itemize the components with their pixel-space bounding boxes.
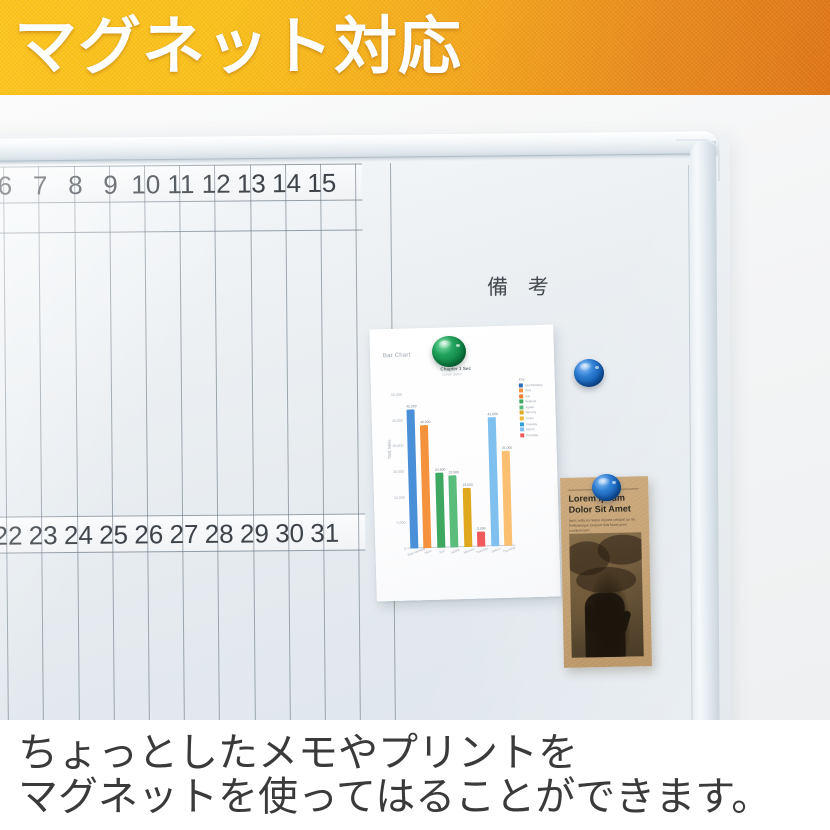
magnet-gloss bbox=[598, 478, 610, 486]
chart-title: Bar Chart bbox=[383, 352, 411, 359]
chart-y-tick-label: 5,000 bbox=[391, 521, 406, 525]
chart-bar bbox=[449, 475, 459, 548]
calendar-column-line bbox=[214, 165, 220, 720]
product-feature-image: マグネット対応 56789101112131415212223242526272… bbox=[0, 0, 830, 830]
blue-magnet-top[interactable] bbox=[574, 359, 604, 387]
calendar-day-cell[interactable]: 6 bbox=[0, 168, 23, 202]
calendar-column-line bbox=[355, 164, 361, 720]
chart-legend-label: Mercury bbox=[525, 410, 536, 414]
photo-branch bbox=[597, 534, 644, 565]
chart-legend-swatch bbox=[519, 388, 523, 392]
chart-bar-value: 40,000 bbox=[420, 420, 428, 424]
photo-hand-palm bbox=[584, 593, 625, 658]
magnet-highlight bbox=[456, 344, 460, 347]
magnet-highlight bbox=[612, 481, 616, 484]
chart-y-tick-label: 20,000 bbox=[389, 470, 404, 474]
chart-legend-item: Tuesday bbox=[520, 421, 550, 426]
calendar-day-cell[interactable]: 14 bbox=[269, 166, 304, 200]
chart-y-tick-label: 40,000 bbox=[388, 418, 403, 422]
photo-branch bbox=[576, 566, 637, 593]
chart-legend-label: Saturn bbox=[526, 427, 535, 431]
calendar-day-cell[interactable]: 31 bbox=[307, 516, 342, 550]
chart-bar-value: 45,000 bbox=[406, 405, 414, 409]
chart-legend-label: Jupiter bbox=[525, 405, 534, 409]
calendar-day-cell[interactable]: 15 bbox=[304, 166, 339, 200]
calendar-rule bbox=[0, 229, 363, 234]
chart-legend-item: Mars bbox=[519, 388, 549, 393]
chart-bar-value: 42,000 bbox=[487, 412, 495, 416]
remarks-label: 備 考 bbox=[487, 271, 556, 302]
chart-legend-item: Thursday bbox=[520, 432, 550, 437]
chart-subtitle-secondary: Lorem ipsum bbox=[442, 372, 462, 377]
chart-legend-label: Neptune bbox=[525, 399, 537, 403]
caption-area: ちょっとしたメモやプリントを マグネットを使ってはることができます。 bbox=[0, 720, 830, 830]
calendar-day-cell[interactable]: 9 bbox=[93, 168, 128, 202]
chart-legend-item: Sun bbox=[519, 393, 549, 398]
kraft-photo bbox=[569, 532, 644, 657]
chart-bar bbox=[406, 410, 418, 549]
calendar-day-cell[interactable]: 30 bbox=[272, 516, 307, 550]
chart-legend-label: East Monday bbox=[524, 382, 542, 387]
magnet-highlight bbox=[595, 366, 599, 369]
chart-bar-value: 24,500 bbox=[435, 467, 443, 471]
calendar-column-line bbox=[38, 166, 44, 720]
calendar-day-cell[interactable]: 24 bbox=[61, 518, 96, 552]
calendar-day-cell[interactable]: 28 bbox=[201, 517, 236, 551]
chart-legend-item: Mercury bbox=[520, 410, 550, 415]
chart-bar-value: 5,000 bbox=[477, 526, 485, 530]
chart-legend-item: Jupiter bbox=[519, 404, 549, 409]
chart-legend-swatch bbox=[520, 422, 524, 426]
chart-bar bbox=[420, 425, 431, 548]
banner-title: マグネット対応 bbox=[14, 8, 462, 86]
caption-line-1: ちょっとしたメモやプリントを bbox=[18, 730, 578, 776]
calendar-day-cell[interactable]: 22 bbox=[0, 518, 26, 552]
chart-legend-label: Venus bbox=[525, 416, 534, 420]
chart-y-axis-label: Total Sales bbox=[386, 439, 392, 459]
calendar-day-cell[interactable]: 8 bbox=[58, 168, 93, 202]
chart-printout: Bar Chart Chapter 1 Sec Lorem ipsum Tota… bbox=[369, 324, 561, 601]
calendar-day-cell[interactable]: 12 bbox=[198, 167, 233, 201]
magnet-gloss bbox=[439, 340, 452, 349]
magnet-gloss bbox=[580, 363, 592, 371]
whiteboard-frame-corner bbox=[676, 139, 720, 181]
chart-bar bbox=[477, 531, 485, 547]
chart-legend-swatch bbox=[520, 433, 524, 437]
calendar-column-line bbox=[3, 167, 9, 720]
chart-bar-value: 31,000 bbox=[502, 445, 510, 449]
calendar-day-cell[interactable]: 10 bbox=[128, 167, 163, 201]
chart-legend-swatch bbox=[520, 411, 524, 415]
chart-bar bbox=[463, 488, 472, 547]
chart-y-tick-label: 0 bbox=[391, 547, 406, 551]
product-photo: 567891011121314152122232425262728293031 … bbox=[0, 95, 830, 720]
calendar-column-line bbox=[320, 164, 326, 720]
calendar-day-cell[interactable]: 29 bbox=[237, 516, 272, 550]
chart-plot-area: 45,000East Monday40,000Mars24,500Sun23,5… bbox=[403, 378, 516, 549]
chart-bar-value: 23,500 bbox=[449, 470, 457, 474]
calendar-day-cell[interactable]: 13 bbox=[234, 166, 269, 200]
chart-legend-swatch bbox=[520, 416, 524, 420]
chart-bar bbox=[488, 417, 499, 547]
calendar-day-cell[interactable]: 23 bbox=[25, 518, 60, 552]
chart-bar bbox=[435, 472, 445, 548]
chart-legend-item: Neptune bbox=[519, 399, 549, 404]
chart-legend-swatch bbox=[520, 428, 524, 432]
kraft-body-text: Nunc nulla eu neque id porta volutpat qu… bbox=[569, 517, 639, 533]
calendar-column-line bbox=[109, 166, 115, 720]
calendar-day-cell[interactable]: 25 bbox=[96, 518, 131, 552]
chart-legend-label: Tuesday bbox=[525, 422, 537, 426]
calendar-column-line bbox=[144, 165, 150, 720]
chart-legend-swatch bbox=[519, 405, 523, 409]
chart-legend-item: Saturn bbox=[520, 427, 550, 432]
chart-bar-value: 19,000 bbox=[462, 483, 470, 487]
calendar-day-cell[interactable]: 26 bbox=[131, 517, 166, 551]
chart-legend-item: Venus bbox=[520, 416, 550, 421]
chart-legend-label: Thursday bbox=[526, 433, 539, 437]
chart-y-tick-label: 50,000 bbox=[387, 393, 402, 397]
chart-legend: Key East MondayMarsSunNeptuneJupiterMerc… bbox=[519, 377, 551, 439]
caption-line-2: マグネットを使ってはることができます。 bbox=[18, 774, 771, 820]
calendar-day-cell[interactable]: 7 bbox=[22, 168, 57, 202]
chart-legend-swatch bbox=[519, 394, 523, 398]
calendar-grid: 567891011121314152122232425262728293031 bbox=[0, 163, 367, 720]
whiteboard-frame-right bbox=[690, 141, 720, 720]
blue-magnet-card[interactable] bbox=[592, 474, 621, 501]
calendar-column-line bbox=[250, 164, 256, 720]
chart-x-tick-label: Thursday bbox=[501, 545, 517, 555]
calendar-day-cell[interactable]: 11 bbox=[163, 167, 198, 201]
calendar-column-line bbox=[285, 164, 291, 720]
chart-legend-label: Mars bbox=[524, 388, 531, 392]
kraft-flyer: Lorem Ipsum Dolor Sit Amet Nunc nulla eu… bbox=[560, 476, 652, 668]
kraft-heading-line2: Dolor Sit Amet bbox=[569, 503, 631, 515]
chart-legend-item: East Monday bbox=[519, 382, 549, 387]
chart-legend-title: Key bbox=[519, 377, 549, 382]
chart-bar bbox=[502, 450, 512, 546]
calendar-day-cell[interactable]: 27 bbox=[166, 517, 201, 551]
chart-y-tick-label: 30,000 bbox=[388, 444, 403, 448]
chart-legend-swatch bbox=[519, 383, 523, 387]
green-magnet[interactable] bbox=[432, 336, 466, 367]
calendar-column-line bbox=[179, 165, 185, 720]
chart-y-tick-label: 10,000 bbox=[390, 495, 405, 499]
chart-legend-swatch bbox=[519, 400, 523, 404]
chart-legend-label: Sun bbox=[525, 394, 531, 398]
calendar-column-line bbox=[74, 166, 80, 720]
header-banner: マグネット対応 bbox=[0, 0, 830, 95]
